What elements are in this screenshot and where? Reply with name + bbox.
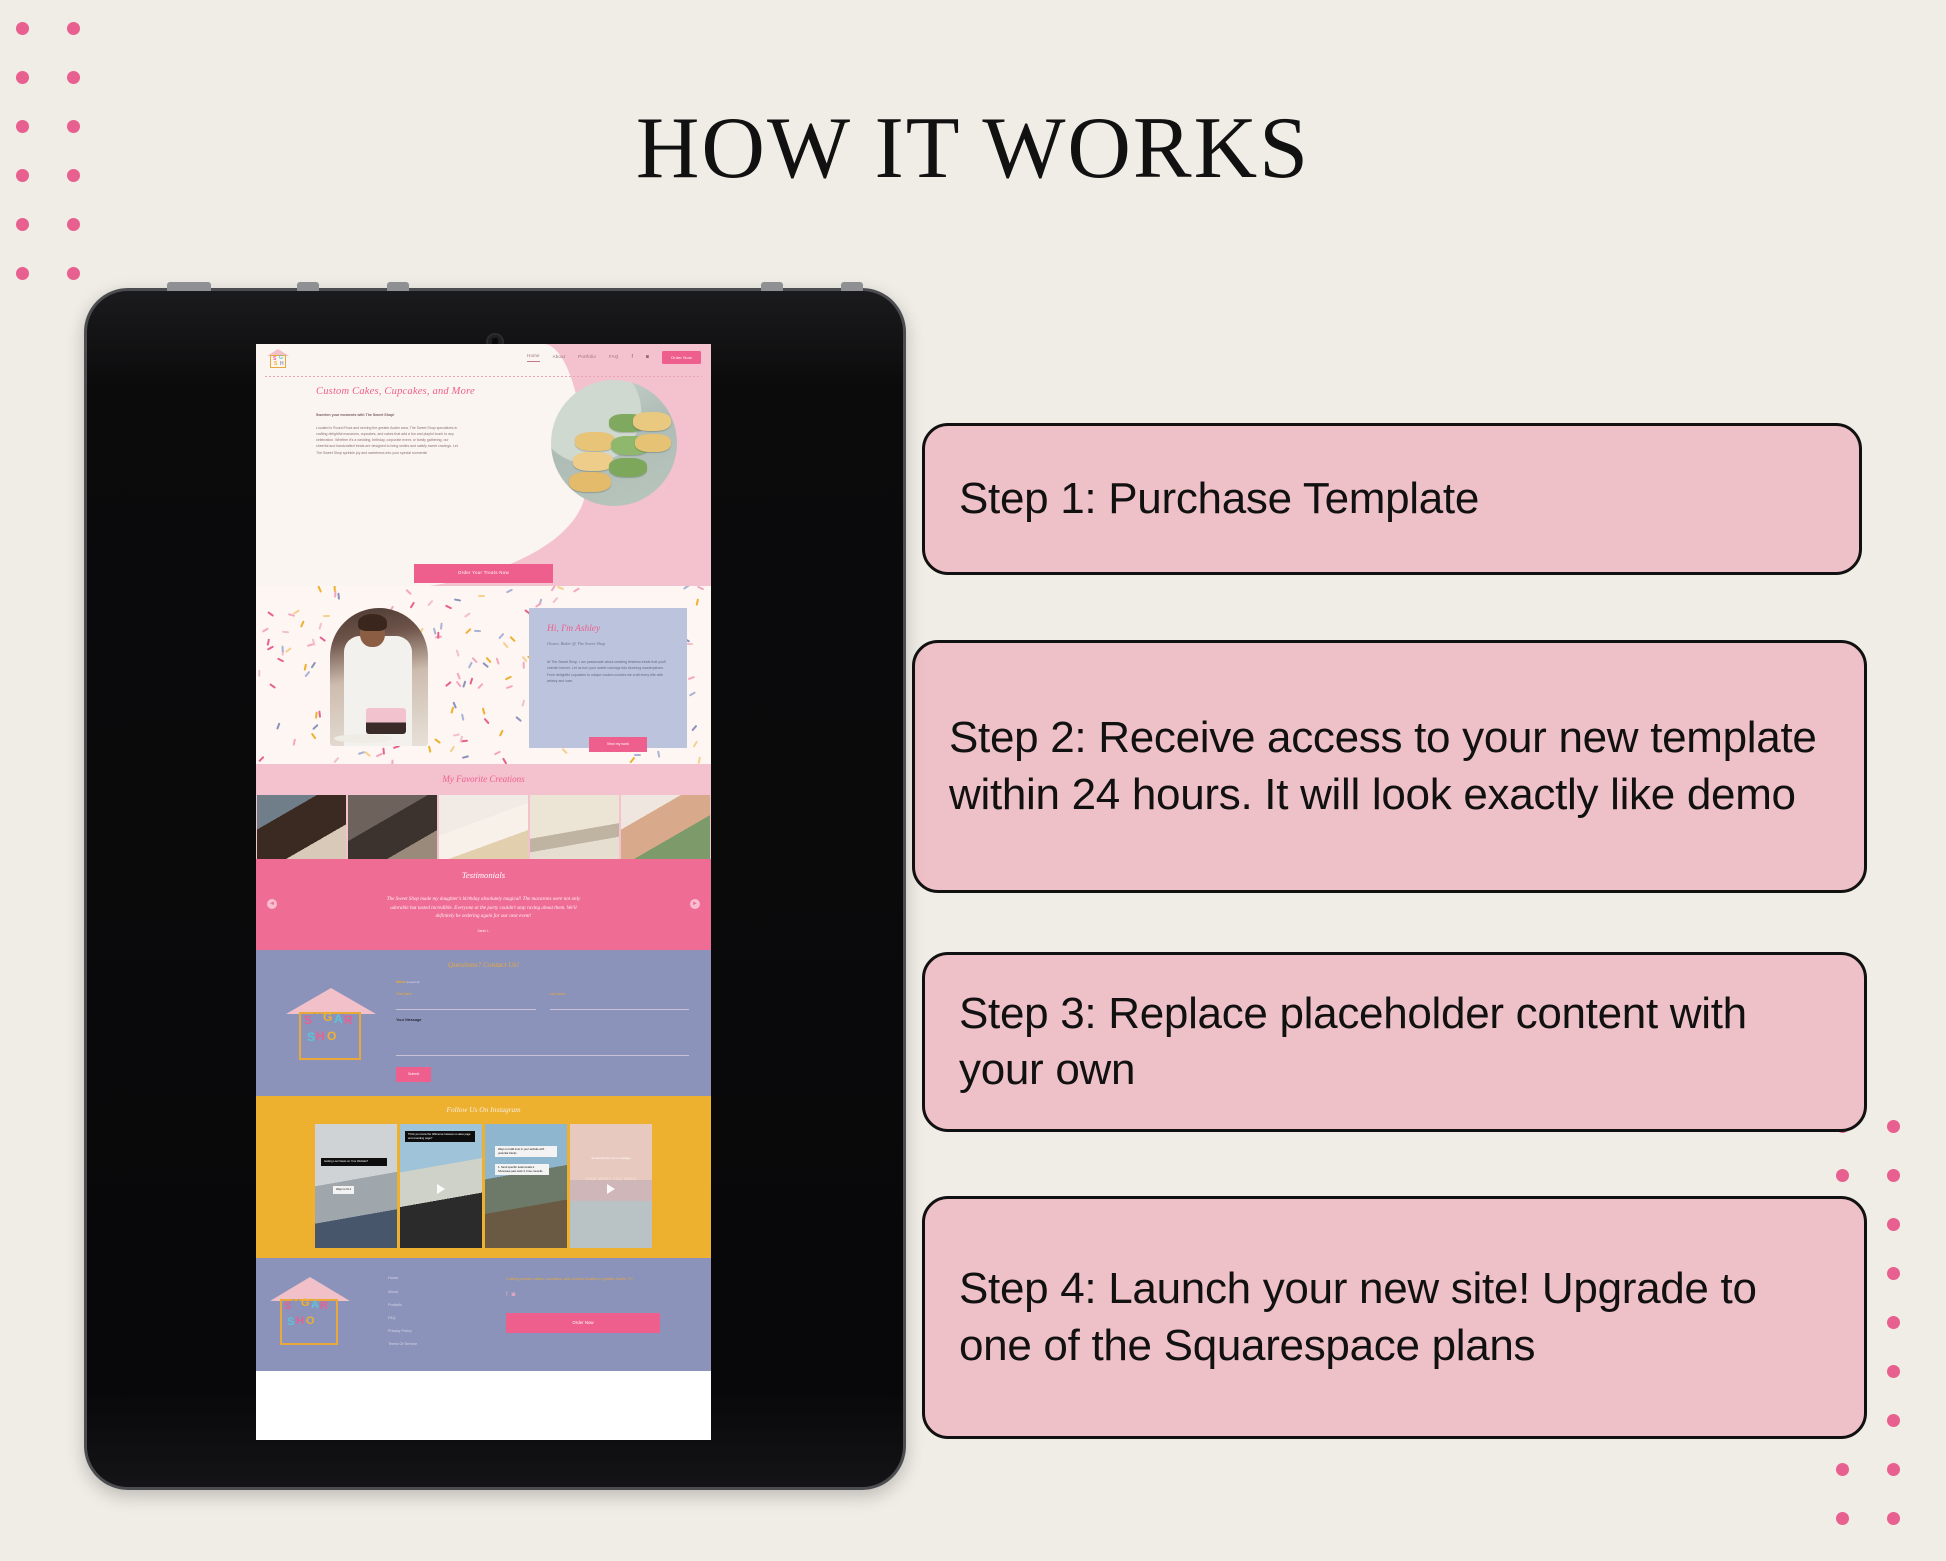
step-1-text: Step 1: Purchase Template [959,471,1479,527]
sprinkle-decoration [482,662,489,668]
footer-tagline: Crafting custom cakes, cupcakes, and coo… [506,1276,695,1282]
sprinkle-decoration [481,707,485,714]
instagram-reel-2[interactable]: Think you know the difference between a … [400,1124,482,1248]
sprinkle-decoration [521,700,525,707]
sprinkle-decoration [454,599,461,603]
first-name-field[interactable]: First Name [396,992,536,1010]
nav-order-now-button[interactable]: Order Now [662,351,701,364]
instagram-reel-4[interactable]: Screenshot for your message TAKE WHAT YO… [570,1124,652,1248]
step-card-2: Step 2: Receive access to your new templ… [912,640,1867,893]
sprinkle-decoration [478,595,485,598]
decorative-dot [1887,1267,1900,1280]
step-card-3: Step 3: Replace placeholder content with… [922,952,1867,1132]
decorative-dot [16,218,29,231]
first-name-label: First Name [396,992,536,997]
step-3-text: Step 3: Replace placeholder content with… [959,986,1830,1099]
sprinkle-decoration [457,673,462,680]
sprinkle-decoration [697,757,701,764]
hero-cream-shape [256,344,586,586]
sprinkle-decoration [505,675,512,680]
gallery-heading: My Favorite Creations [442,774,524,784]
decorative-dot [16,71,29,84]
instagram-icon[interactable]: ◙ [646,354,649,362]
sprinkle-decoration [688,675,695,680]
decorative-dot [67,71,80,84]
sprinkle-decoration [450,707,454,714]
sprinkle-decoration [461,714,465,721]
decorative-dot [1887,1365,1900,1378]
sprinkle-decoration [486,657,492,664]
contact-logo: S U G A R S H O P [278,980,384,1062]
sprinkle-decoration [657,750,661,757]
sprinkle-decoration [258,669,260,676]
tablet-button-4 [761,282,783,291]
testimonial-quote: The Sweet Shop made my daughter's birthd… [384,895,584,920]
gallery-image-3[interactable] [439,795,528,859]
last-name-field[interactable]: Last Name [550,992,690,1010]
step-2-text: Step 2: Receive access to your new templ… [949,710,1830,823]
footer-social-icons[interactable]: f◙ [506,1291,695,1300]
reel-2-caption: Think you know the difference between a … [405,1131,475,1142]
instagram-heading: Follow Us On Instagram [256,1104,711,1115]
nav-link-faq[interactable]: FAQ [609,354,618,361]
tablet-device-mockup: S G S H Home About Portfolio FAQ f ◙ Ord… [84,288,906,1490]
sprinkle-decoration [323,615,330,618]
sprinkle-decoration [319,636,326,642]
sprinkle-decoration [499,730,504,737]
decorative-dot [1887,1316,1900,1329]
sprinkle-decoration [509,636,516,643]
sprinkle-decoration [277,722,282,729]
sprinkle-decoration [300,621,305,628]
hero-body-text: Located in Round Rock and serving the gr… [316,425,458,456]
footer-links[interactable]: Home About Portfolio FAQ Privacy Policy … [388,1271,506,1355]
footer-logo[interactable]: S U G A R S H O P [256,1271,388,1355]
sprinkle-decoration [432,627,436,634]
website-preview: S G S H Home About Portfolio FAQ f ◙ Ord… [256,344,711,1371]
sprinkle-decoration [440,623,443,630]
instagram-reels-row: Getting Lost Views on Your Website? Ways… [256,1124,711,1248]
footer-order-now-button[interactable]: Order Now [506,1313,660,1334]
footer-link-privacy-policy[interactable]: Privacy Policy [388,1329,506,1335]
footer-right: Crafting custom cakes, cupcakes, and coo… [506,1271,711,1355]
decorative-dot [1836,1463,1849,1476]
sprinkle-decoration [277,657,284,662]
reel-1-caption: Getting Lost Views on Your Website? [321,1158,387,1166]
step-4-text: Step 4: Launch your new site! Upgrade to… [959,1261,1830,1374]
tablet-button-2 [297,282,319,291]
sprinkle-decoration [267,611,274,617]
reel-4-caption: Screenshot for your message [578,1156,644,1161]
sprinkle-decoration [444,605,451,610]
message-field[interactable]: Your Message [396,1017,689,1056]
sprinkle-decoration [474,630,481,633]
sprinkle-decoration [468,661,473,668]
sprinkle-decoration [410,602,416,609]
testimonials-heading: Testimonials [256,869,711,882]
hero-cta-wrapper: Order Your Treats Now [256,564,711,583]
sprinkle-decoration [484,717,490,724]
sprinkle-decoration [695,598,699,605]
contact-section: Questions? Contact Us! S U G A R S H O P [256,950,711,1096]
sprinkle-decoration [391,759,394,764]
sprinkle-decoration [262,628,269,634]
instagram-reel-1[interactable]: Getting Lost Views on Your Website? Ways… [315,1124,397,1248]
sprinkle-decoration [456,680,462,687]
hero-order-button[interactable]: Order Your Treats Now [414,564,553,583]
last-name-label: Last Name [550,992,690,997]
sprinkle-decoration [463,681,468,688]
logo-house-icon: S G S H [270,355,286,368]
hero-subheading: Sweeten your moments with The Sweet Shop… [316,413,458,418]
hero-heading: Custom Cakes, Cupcakes, and More [316,384,475,400]
tablet-button-5 [841,282,863,291]
decorative-dot [67,218,80,231]
tablet-button-1 [167,282,211,291]
gallery-image-4[interactable] [530,795,619,859]
sprinkle-decoration [305,671,311,678]
decorative-dot [16,22,29,35]
step-card-1: Step 1: Purchase Template [922,423,1862,575]
about-role: Owner, Baker @ The Sweet Shop [547,641,687,648]
gallery-image-5[interactable] [621,795,710,859]
gallery-heading-wrap: My Favorite Creations [256,764,711,795]
gallery-image-2[interactable] [348,795,437,859]
sprinkle-decoration [552,597,558,604]
decorative-dot [1887,1218,1900,1231]
sprinkle-decoration [450,746,456,753]
decorative-dot [67,267,80,280]
required-note: (required) [407,980,420,984]
tablet-screen: S G S H Home About Portfolio FAQ f ◙ Ord… [256,344,711,1440]
instagram-section: Follow Us On Instagram Getting Lost View… [256,1096,711,1258]
play-icon[interactable] [607,1184,615,1194]
gallery-image-1[interactable] [257,795,346,859]
decorative-dot [67,22,80,35]
sprinkle-decoration [333,586,336,591]
testimonial-author: Sarah L. [256,929,711,934]
sprinkle-decoration [535,602,542,608]
hero-section: S G S H Home About Portfolio FAQ f ◙ Ord… [256,344,711,586]
decorative-dot [16,267,29,280]
sprinkle-decoration [469,678,473,685]
nav-link-about[interactable]: About [553,354,565,361]
sprinkle-decoration [493,751,500,756]
decorative-dot [1887,1120,1900,1133]
sprinkle-decoration [288,613,295,617]
tablet-button-3 [387,282,409,291]
about-title: Hi, I'm Ashley [547,622,687,636]
sprinkle-decoration [382,747,385,754]
footer-link-faq[interactable]: FAQ [388,1316,506,1322]
footer-link-portfolio[interactable]: Portfolio [388,1303,506,1309]
instagram-icon[interactable]: ◙ [512,1292,520,1298]
site-footer: S U G A R S H O P Home About Portfolio F… [256,1258,711,1371]
decorative-dot [1887,1169,1900,1182]
sprinkle-decoration [285,647,292,653]
footer-link-terms-of-service[interactable]: Terms Of Service [388,1342,506,1348]
nav-link-portfolio[interactable]: Portfolio [578,354,596,361]
sprinkle-decoration [689,692,696,698]
sprinkle-decoration [506,685,513,690]
sprinkle-decoration [453,733,460,737]
testimonial-next-arrow-icon[interactable]: ► [690,899,700,909]
decorative-dot [1887,1512,1900,1525]
about-view-work-button[interactable]: View my work [589,737,647,752]
sprinkle-decoration [269,683,276,689]
gallery-grid [256,795,711,859]
sprinkle-decoration [502,642,508,649]
sprinkle-decoration [311,662,317,669]
sprinkle-decoration [477,683,484,690]
sprinkle-decoration [337,592,340,599]
contact-name-label: Name (required) [396,980,689,985]
testimonials-section: Testimonials The Sweet Shop made my daug… [256,859,711,951]
facebook-icon[interactable]: f [631,354,632,362]
sprinkle-decoration [266,638,270,645]
sprinkle-decoration [522,661,525,668]
sprinkle-decoration [629,757,635,764]
decorative-dot [1887,1414,1900,1427]
sprinkle-decoration [445,681,452,687]
decorative-dot [1887,1463,1900,1476]
hero-macarons-image [551,380,677,506]
sprinkle-decoration [427,600,434,607]
instagram-reel-3[interactable]: Ways to build trust in your website with… [485,1124,567,1248]
about-body-text: At The Sweet Shop, I am passionate about… [547,659,669,685]
contact-form[interactable]: Name (required) First Name Last Name [384,980,689,1082]
footer-link-about[interactable]: About [388,1290,506,1296]
site-logo[interactable]: S G S H [267,349,289,368]
sprinkle-decoration [692,741,698,748]
sprinkle-decoration [505,589,512,594]
play-icon[interactable] [437,1184,445,1194]
sprinkle-decoration [696,586,703,591]
sprinkle-decoration [573,587,580,593]
sprinkle-decoration [502,758,508,764]
sprinkle-decoration [495,658,499,665]
sprinkle-decoration [464,612,471,618]
sprinkle-decoration [691,724,697,731]
gallery-section: My Favorite Creations [256,764,711,859]
about-text-card: Hi, I'm Ashley Owner, Baker @ The Sweet … [529,608,687,748]
contact-heading: Questions? Contact Us! [256,959,711,970]
testimonial-prev-arrow-icon[interactable]: ◄ [267,899,277,909]
contact-submit-button[interactable]: Submit [396,1067,431,1082]
sprinkle-decoration [465,628,472,635]
sprinkle-decoration [281,631,288,634]
sprinkle-decoration [515,716,522,722]
about-section: Hi, I'm Ashley Owner, Baker @ The Sweet … [256,586,711,764]
footer-link-home[interactable]: Home [388,1276,506,1282]
sprinkle-decoration [498,633,504,640]
sprinkle-decoration [319,623,323,630]
decorative-dot [1836,1512,1849,1525]
sprinkle-decoration [292,739,296,746]
sprinkle-decoration [317,586,322,593]
sprinkle-decoration [634,754,641,756]
sprinkle-decoration [312,724,319,730]
footer-logo-roof-icon [270,1277,350,1301]
sprinkle-decoration [557,586,564,590]
site-navbar[interactable]: Home About Portfolio FAQ f ◙ Order Now [527,351,701,364]
sprinkle-decoration [258,756,265,763]
sprinkle-decoration [428,746,432,753]
reel-3-caption: Ways to build trust in your website with… [495,1146,557,1157]
sprinkle-decoration [405,589,412,596]
step-card-4: Step 4: Launch your new site! Upgrade to… [922,1196,1867,1439]
sprinkle-decoration [461,739,468,742]
reel-1-caption-2: Ways to fix it [333,1186,354,1194]
sprinkle-decoration [304,663,308,670]
sprinkle-decoration [333,757,339,764]
sprinkle-decoration [462,755,469,759]
sprinkle-decoration [281,646,284,653]
sprinkle-decoration [455,650,459,657]
sprinkle-decoration [318,711,321,718]
sprinkle-decoration [561,747,568,754]
sprinkle-decoration [434,738,441,744]
sprinkle-decoration [310,732,316,739]
nav-link-home[interactable]: Home [527,353,540,362]
sprinkle-decoration [364,751,371,757]
page-title: HOW IT WORKS [0,98,1946,199]
about-baker-image [330,608,428,746]
message-label: Your Message [396,1017,689,1023]
sprinkle-decoration [683,586,690,590]
decorative-dot [1836,1169,1849,1182]
sprinkle-decoration [267,645,274,650]
reel-4-caption-2: TAKE WHAT YOU NEED [578,1176,644,1182]
reel-3-caption-2: 1. Send specific testimonials 2. Showcas… [495,1164,549,1175]
nav-divider [265,376,702,377]
